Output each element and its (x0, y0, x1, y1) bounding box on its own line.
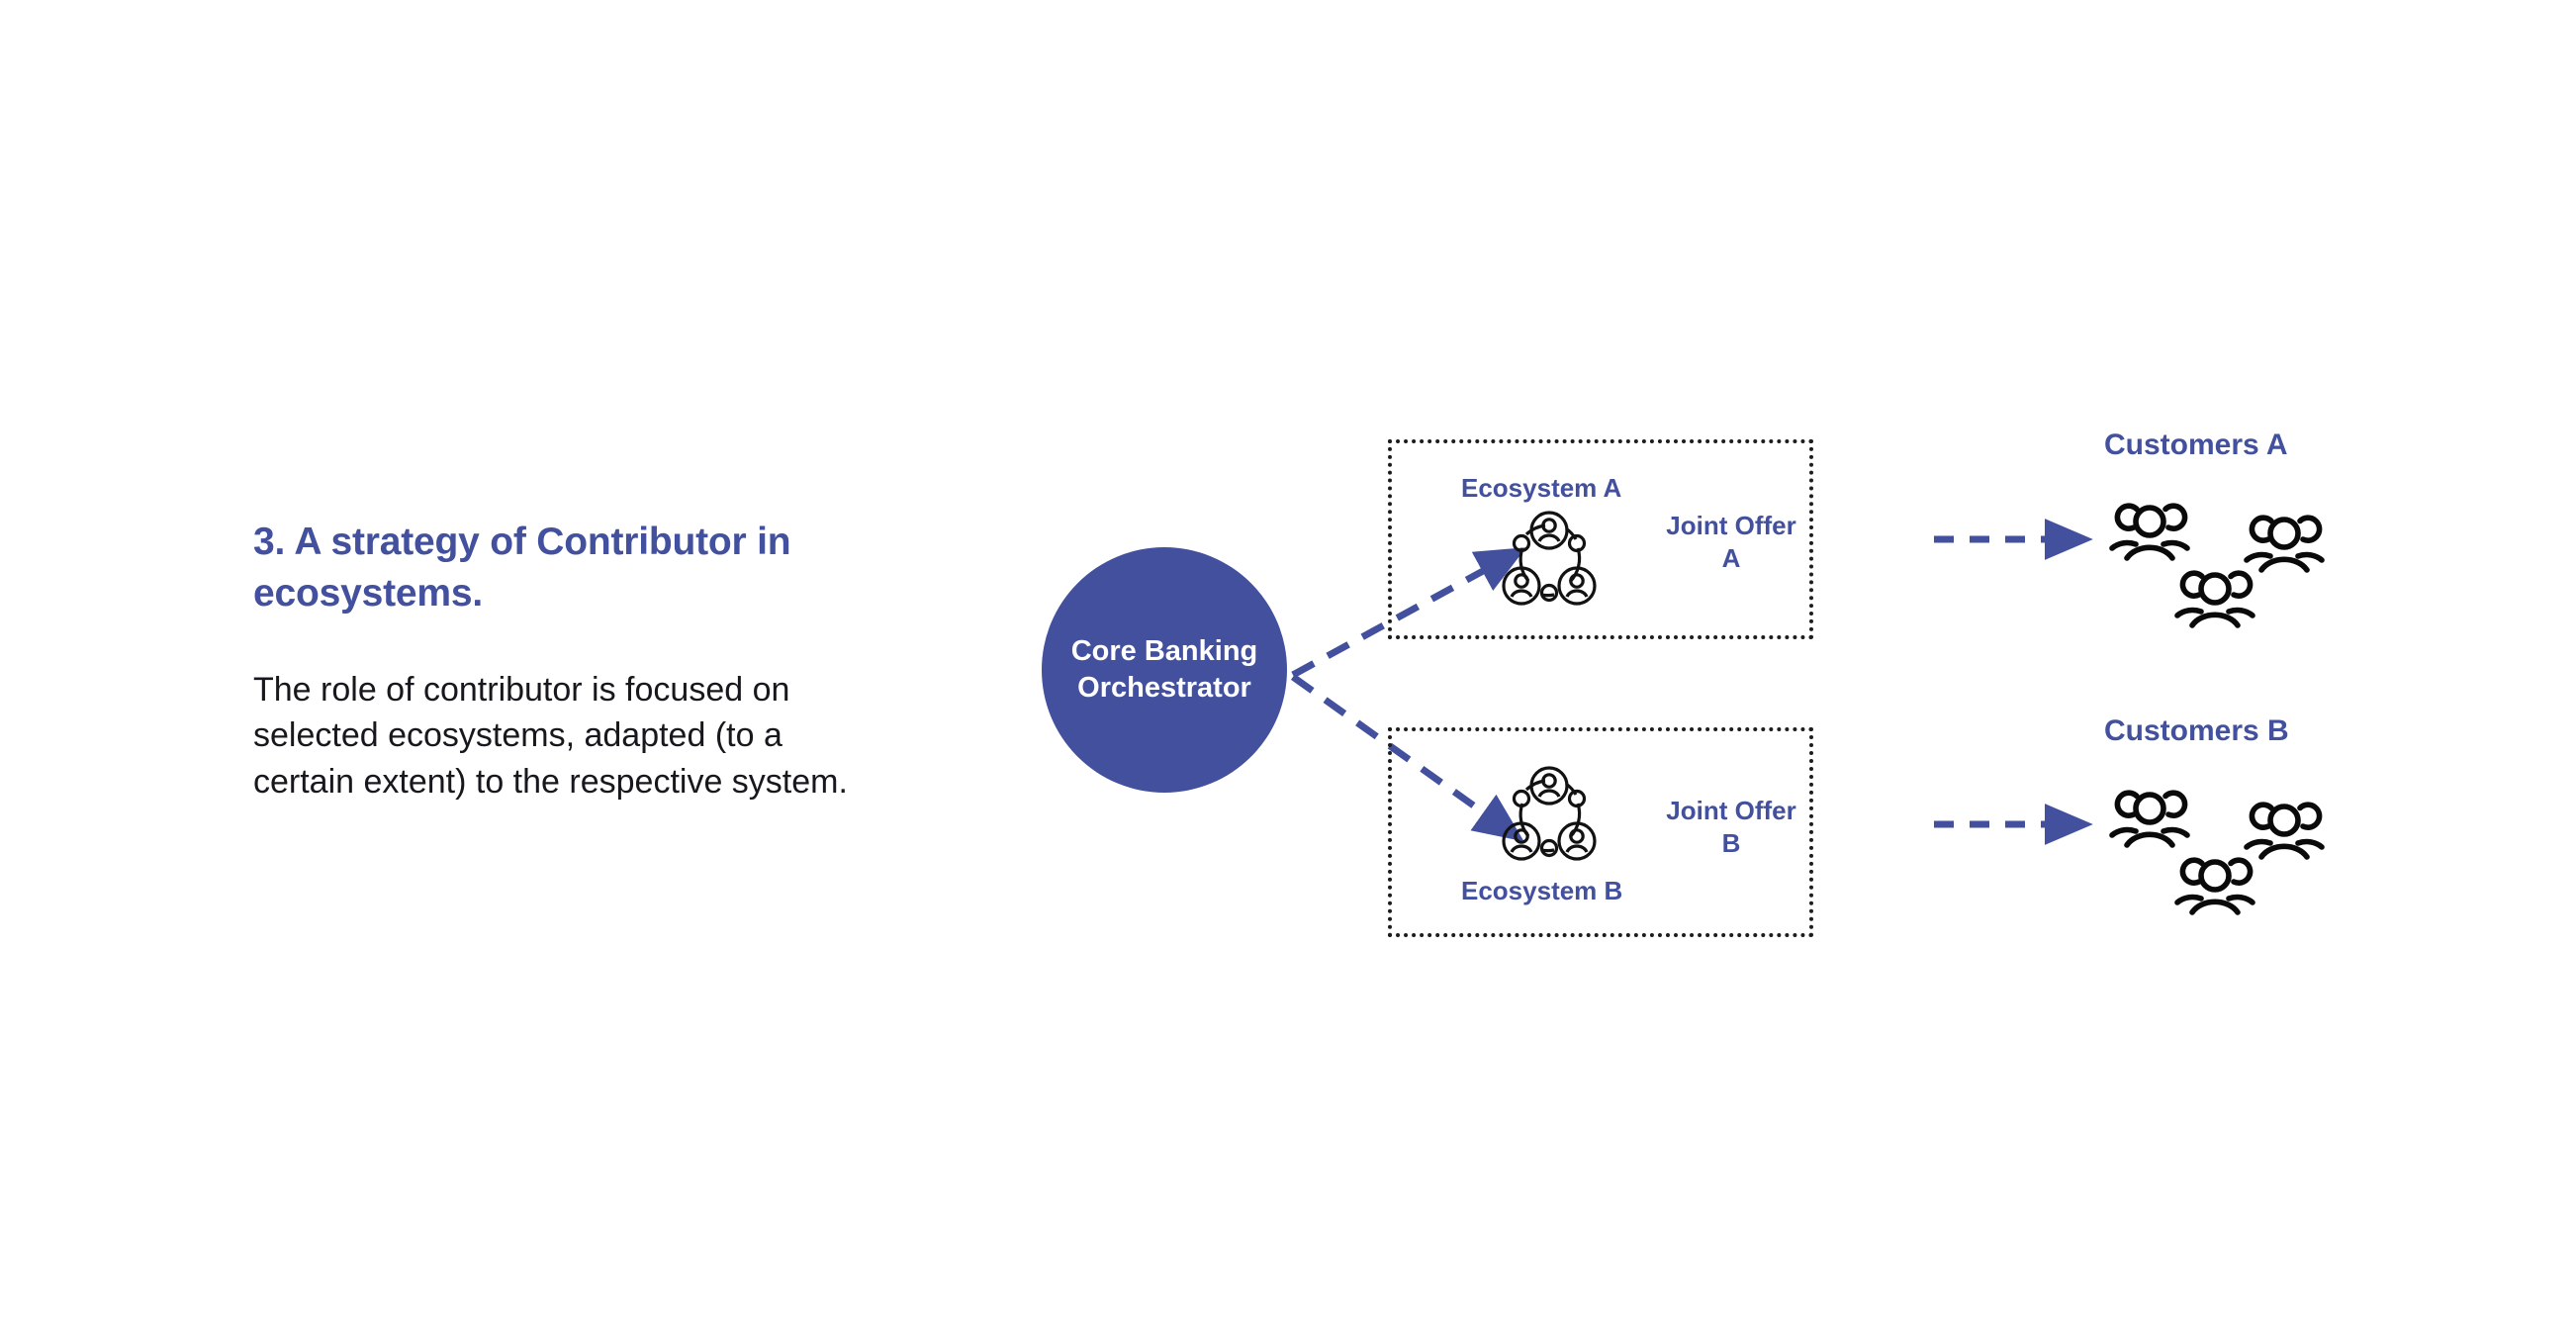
network-collaboration-icon (1497, 507, 1602, 612)
ecosystem-strategy-diagram: Core Banking Orchestrator Ecosystem A (0, 0, 2576, 1328)
people-group-icon (2242, 515, 2327, 578)
customers-b-title: Customers B (2104, 714, 2289, 748)
joint-offer-b-label: Joint Offer B (1632, 795, 1830, 860)
people-group-icon (2172, 857, 2257, 920)
joint-offer-a-label: Joint Offer A (1632, 510, 1830, 575)
connector-layer (0, 0, 2576, 1328)
network-collaboration-icon (1497, 762, 1602, 867)
ecosystem-a-label: Ecosystem A (1461, 473, 1621, 504)
customers-b-cluster (2095, 782, 2343, 920)
people-group-icon (2107, 790, 2192, 853)
orchestrator-label: Core Banking Orchestrator (1071, 633, 1258, 707)
people-group-icon (2242, 802, 2327, 865)
people-group-icon (2107, 503, 2192, 566)
customers-a-title: Customers A (2104, 428, 2288, 462)
ecosystem-b-label: Ecosystem B (1461, 876, 1622, 906)
customers-a-cluster (2095, 495, 2343, 633)
people-group-icon (2172, 570, 2257, 633)
core-banking-orchestrator-node[interactable]: Core Banking Orchestrator (1042, 547, 1287, 793)
